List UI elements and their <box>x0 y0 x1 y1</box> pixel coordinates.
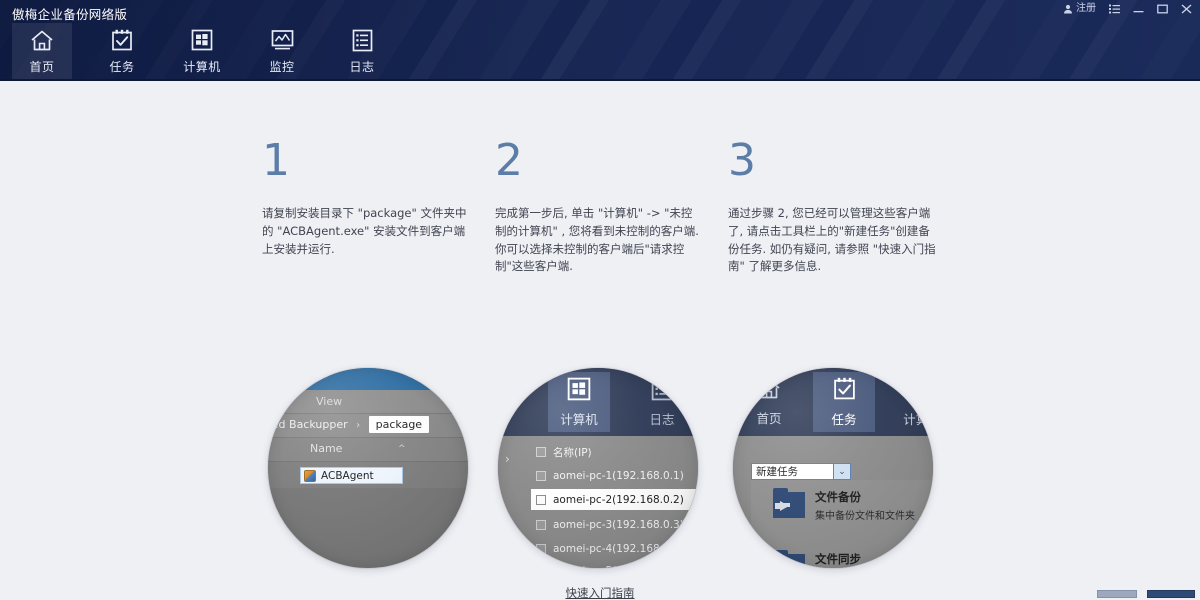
list-item[interactable]: aomei-pc-2(192.168.0.2) <box>531 489 698 510</box>
menu-item-file-sync[interactable]: 文件同步 <box>773 552 861 568</box>
maximize-button[interactable] <box>1155 2 1170 16</box>
step-3: 3 通过步骤 2, 您已经可以管理这些客户端了, 请点击工具栏上的"新建任务"创… <box>728 139 968 276</box>
step-3-text: 通过步骤 2, 您已经可以管理这些客户端了, 请点击工具栏上的"新建任务"创建备… <box>728 205 940 276</box>
app-title: 傲梅企业备份网络版 <box>12 4 127 23</box>
explorer-window: View zed Backupper › package Name ^ ACBA… <box>268 368 468 568</box>
row-checkbox[interactable] <box>536 471 546 481</box>
quick-start-guide-link[interactable]: 快速入门指南 <box>0 585 1200 600</box>
menu-item-file-backup[interactable]: 文件备份 集中备份文件和文件夹 <box>773 490 915 522</box>
nav-tab-home-label: 首页 <box>29 58 54 75</box>
screenshot3-tab-computer-label: 计算机 <box>903 409 933 428</box>
main-nav: 首页 任务 <box>12 23 412 79</box>
nav-tab-task-label: 任务 <box>109 58 134 75</box>
list-item-label: aomei-pc-4(192.168.0.4) <box>553 543 684 555</box>
clipboard-check-icon <box>833 377 856 405</box>
screenshot3-tab-task-label: 任务 <box>831 409 856 428</box>
footer-primary-button[interactable] <box>1147 590 1195 598</box>
explorer-empty-area <box>268 488 468 568</box>
nav-tab-home[interactable]: 首页 <box>12 23 72 79</box>
nav-tab-monitor[interactable]: 监控 <box>252 23 312 79</box>
explorer-ribbon-bar <box>268 390 468 414</box>
minimize-button[interactable] <box>1131 2 1146 16</box>
explorer-column-header-row <box>268 438 468 462</box>
folder-arrow-icon <box>773 492 805 518</box>
uncontrolled-computers-panel: 计算机 日志 › <box>498 368 698 568</box>
computer-list-header[interactable]: 名称(IP) <box>536 440 698 464</box>
row-checkbox[interactable] <box>536 566 546 568</box>
quick-start-guide-label: 快速入门指南 <box>566 586 635 600</box>
breadcrumb-current[interactable]: package <box>369 416 429 433</box>
expand-chevron-icon[interactable]: › <box>505 452 510 466</box>
breadcrumb-prefix[interactable]: zed Backupper <box>268 418 348 431</box>
step-3-number: 3 <box>728 139 968 183</box>
home-icon <box>30 28 54 53</box>
row-checkbox[interactable] <box>536 520 546 530</box>
home-icon <box>757 377 781 404</box>
screenshot2-tab-log-label: 日志 <box>649 409 674 428</box>
list-document-icon <box>651 377 673 405</box>
clipboard-check-icon <box>111 28 133 53</box>
new-task-panel: 首页 任务 <box>733 368 933 568</box>
close-button[interactable] <box>1179 2 1194 16</box>
explorer-file-row[interactable]: ACBAgent <box>300 467 403 484</box>
step-1: 1 请复制安装目录下 "package" 文件夹中的 "ACBAgent.exe… <box>262 139 502 258</box>
select-all-checkbox[interactable] <box>536 447 546 457</box>
new-task-dropdown[interactable]: 新建任务 ⌄ <box>751 463 851 480</box>
windows-grid-icon <box>910 377 933 405</box>
computer-list-header-label: 名称(IP) <box>553 445 592 460</box>
application-file-icon <box>304 470 316 482</box>
row-checkbox[interactable] <box>536 544 546 554</box>
explorer-column-name[interactable]: Name <box>310 442 342 455</box>
maximize-icon <box>1157 4 1168 14</box>
list-item[interactable]: aomei-pc-1(192.168.0.1) <box>536 464 698 488</box>
window-controls: 注册 <box>1061 2 1194 16</box>
close-icon <box>1181 4 1192 14</box>
list-item-label: aomei-pc-3(192.168.0.3) <box>553 519 684 531</box>
footer-secondary-button[interactable] <box>1097 590 1137 598</box>
step-3-screenshot: 首页 任务 <box>733 368 933 568</box>
explorer-title-bar <box>268 368 468 390</box>
list-item-label: aomei-pc-5(192.168. <box>553 565 663 568</box>
windows-grid-icon <box>567 377 591 405</box>
new-task-dropdown-value: 新建任务 <box>752 464 833 479</box>
screenshot3-tab-task[interactable]: 任务 <box>813 372 875 432</box>
nav-tab-computer-label: 计算机 <box>183 58 221 75</box>
list-menu-icon <box>1109 4 1120 14</box>
list-item[interactable]: aomei-pc-5(192.168. <box>536 559 698 568</box>
step-2-text: 完成第一步后, 单击 "计算机" -> "未控制的计算机" , 您将看到未控制的… <box>495 205 700 276</box>
chevron-down-icon[interactable]: ⌄ <box>833 464 850 479</box>
list-document-icon <box>352 28 373 53</box>
list-item[interactable]: aomei-pc-3(192.168.0.3) <box>536 513 698 537</box>
main-content: 1 请复制安装目录下 "package" 文件夹中的 "ACBAgent.exe… <box>0 81 1200 600</box>
list-item[interactable]: aomei-pc-4(192.168.0.4) <box>536 537 698 561</box>
explorer-view-tab[interactable]: View <box>316 395 342 408</box>
step-1-text: 请复制安装目录下 "package" 文件夹中的 "ACBAgent.exe" … <box>262 205 467 258</box>
register-button[interactable]: 注册 <box>1061 2 1098 16</box>
screenshot2-tab-log[interactable]: 日志 <box>631 372 693 432</box>
row-checkbox[interactable] <box>536 495 546 505</box>
breadcrumb: zed Backupper › package <box>268 418 429 431</box>
menu-item-file-backup-subtitle: 集中备份文件和文件夹 <box>815 507 915 522</box>
chart-monitor-icon <box>271 28 294 53</box>
step-1-screenshot: View zed Backupper › package Name ^ ACBA… <box>268 368 468 568</box>
register-label: 注册 <box>1076 4 1096 14</box>
minimize-icon <box>1133 4 1144 14</box>
screenshot3-tab-home-label: 首页 <box>756 408 781 427</box>
explorer-file-name: ACBAgent <box>321 470 374 482</box>
breadcrumb-separator-icon: › <box>356 420 360 431</box>
sort-caret-icon: ^ <box>398 444 406 454</box>
screenshot2-tab-computer-label: 计算机 <box>560 409 598 428</box>
list-item-label: aomei-pc-1(192.168.0.1) <box>553 470 684 482</box>
menu-item-file-backup-title: 文件备份 <box>815 490 915 504</box>
screenshot3-tab-computer[interactable]: 计算机 <box>891 372 933 432</box>
list-item-label: aomei-pc-2(192.168.0.2) <box>553 494 684 506</box>
nav-tab-log[interactable]: 日志 <box>332 23 392 79</box>
user-icon <box>1063 4 1073 14</box>
menu-button[interactable] <box>1107 2 1122 16</box>
folder-arrow-icon <box>773 554 805 568</box>
step-2-number: 2 <box>495 139 735 183</box>
nav-tab-log-label: 日志 <box>349 58 374 75</box>
nav-tab-monitor-label: 监控 <box>269 58 294 75</box>
step-1-number: 1 <box>262 139 502 183</box>
nav-tab-task[interactable]: 任务 <box>92 23 152 79</box>
step-2: 2 完成第一步后, 单击 "计算机" -> "未控制的计算机" , 您将看到未控… <box>495 139 735 276</box>
step-2-screenshot: 计算机 日志 › <box>498 368 698 568</box>
windows-grid-icon <box>191 28 213 53</box>
menu-item-file-sync-title: 文件同步 <box>815 552 861 566</box>
nav-tab-computer[interactable]: 计算机 <box>172 23 232 79</box>
screenshot3-tab-home[interactable]: 首页 <box>738 372 800 432</box>
screenshot2-tab-computer[interactable]: 计算机 <box>548 372 610 432</box>
new-task-menu-panel: 文件备份 集中备份文件和文件夹 文件同步 <box>751 480 933 568</box>
title-bar: 傲梅企业备份网络版 注册 <box>0 0 1200 81</box>
